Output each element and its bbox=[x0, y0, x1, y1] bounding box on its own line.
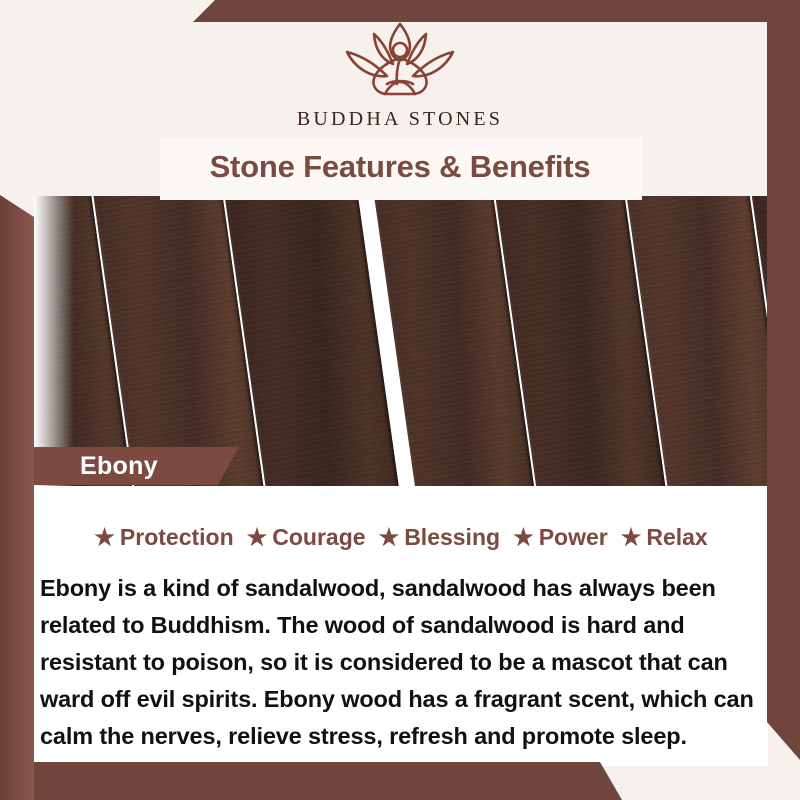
benefit-item: ★ Power bbox=[513, 524, 608, 551]
wood-planks bbox=[34, 196, 768, 486]
star-icon: ★ bbox=[379, 526, 400, 549]
benefits-row: ★ Protection ★ Courage ★ Blessing ★ Powe… bbox=[34, 524, 768, 551]
infographic-page: BUDDHA STONES Stone Features & Benefits … bbox=[0, 0, 800, 800]
benefit-label: Protection bbox=[120, 524, 234, 551]
benefit-label: Relax bbox=[646, 524, 707, 551]
star-icon: ★ bbox=[513, 526, 534, 549]
star-icon: ★ bbox=[621, 526, 642, 549]
benefit-item: ★ Blessing bbox=[379, 524, 501, 551]
star-icon: ★ bbox=[247, 526, 268, 549]
product-label: Ebony bbox=[80, 452, 158, 481]
description-text: Ebony is a kind of sandalwood, sandalwoo… bbox=[40, 570, 756, 755]
photo-left-fade bbox=[34, 196, 74, 486]
brand-header: BUDDHA STONES bbox=[0, 0, 800, 150]
benefit-label: Power bbox=[539, 524, 608, 551]
benefit-item: ★ Courage bbox=[247, 524, 366, 551]
benefit-label: Courage bbox=[272, 524, 365, 551]
product-photo bbox=[34, 196, 768, 486]
frame-left-border bbox=[0, 195, 34, 800]
lotus-meditation-figure-icon bbox=[325, 18, 475, 102]
frame-right-border bbox=[767, 0, 800, 760]
star-icon: ★ bbox=[94, 526, 115, 549]
brand-name: BUDDHA STONES bbox=[297, 108, 503, 131]
page-title: Stone Features & Benefits bbox=[0, 143, 800, 191]
benefit-label: Blessing bbox=[404, 524, 500, 551]
benefit-item: ★ Protection bbox=[94, 524, 233, 551]
benefit-item: ★ Relax bbox=[621, 524, 708, 551]
